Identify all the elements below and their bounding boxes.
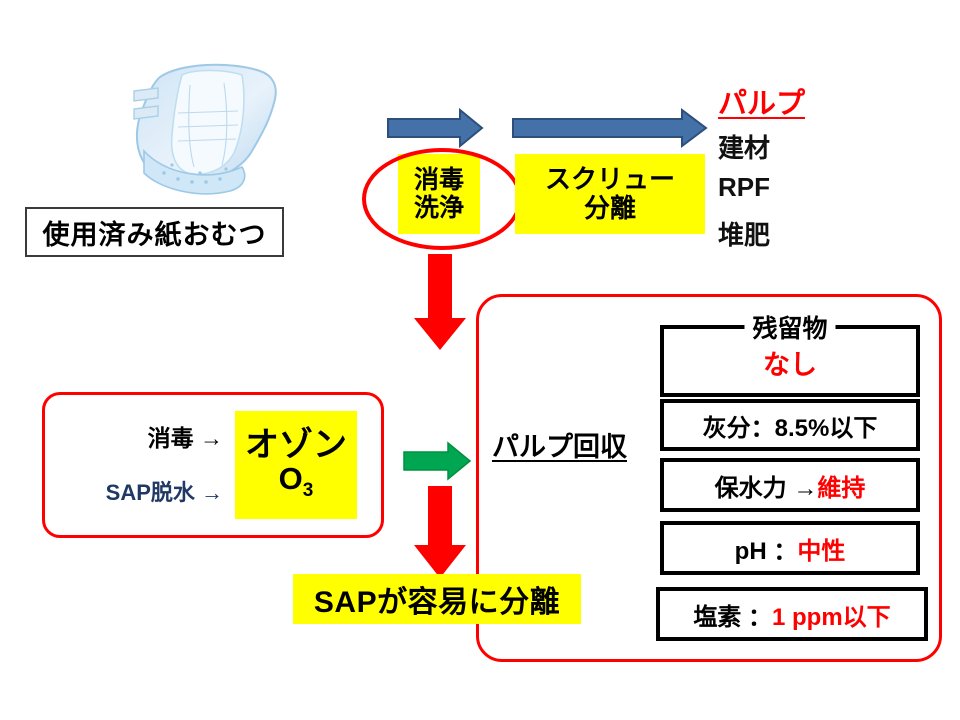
- result-ph-value: 中性: [797, 531, 845, 566]
- red-arrow-down-2: [414, 486, 466, 578]
- result-water-value: 維持: [817, 468, 865, 503]
- result-row-ash: 灰分：8.5%以下: [660, 399, 920, 451]
- result-water-label: 保水力 →: [715, 468, 818, 503]
- pulp-recovery-heading: パルプ回収: [492, 425, 627, 464]
- blue-arrow-1: [388, 110, 482, 146]
- ozone-label-sap-dehydration: SAP脱水 →: [106, 475, 223, 507]
- result-ph-label: pH ：: [735, 531, 798, 566]
- ozone-label-disinfect: 消毒 →: [148, 419, 223, 453]
- ozone-formula-subscript: 3: [303, 480, 314, 501]
- residue-value: なし: [664, 343, 916, 382]
- result-ash-text: 灰分：8.5%以下: [703, 408, 878, 443]
- ozone-formula-base: O: [279, 461, 303, 496]
- result-chlorine-label: 塩素 ：: [693, 597, 772, 632]
- result-row-water-retention: 保水力 → 維持: [660, 458, 920, 512]
- diaper-illustration: [120, 55, 300, 205]
- used-diaper-caption-text: 使用済み紙おむつ: [43, 213, 267, 252]
- sap-separation-text: SAPが容易に分離: [314, 577, 560, 621]
- ozone-formula: O3: [279, 462, 314, 502]
- step2-line1: スクリュー: [545, 165, 675, 194]
- diagram-canvas: 使用済み紙おむつ 消毒 洗浄 スクリュー 分離 パルプ 建材: [0, 0, 960, 720]
- pulp-use-item-2: RPF: [718, 172, 770, 203]
- ozone-highlight-box: オゾン O3: [235, 411, 357, 519]
- residue-box: 残留物 なし: [660, 325, 920, 397]
- pulp-use-item-3: 堆肥: [718, 215, 770, 252]
- blue-arrow-2: [513, 110, 706, 146]
- result-row-chlorine: 塩素 ： 1 ppm以下: [656, 587, 928, 641]
- green-arrow-right: [404, 443, 470, 479]
- used-diaper-caption: 使用済み紙おむつ: [25, 207, 284, 257]
- process-step-screw-separation[interactable]: スクリュー 分離: [515, 154, 705, 234]
- red-arrow-down-1: [414, 254, 466, 350]
- ozone-name: オゾン: [245, 428, 347, 462]
- diaper-tab-upper: [134, 88, 158, 101]
- result-chlorine-value: 1 ppm以下: [772, 597, 891, 632]
- pulp-use-item-1: 建材: [718, 128, 770, 165]
- ozone-reagent-card: 消毒 → SAP脱水 → オゾン O3: [42, 392, 384, 538]
- red-highlight-ellipse: [362, 148, 522, 250]
- pulp-output-title: パルプ: [718, 80, 805, 122]
- step2-line2: 分離: [584, 194, 636, 223]
- ozone-card-labels: 消毒 → SAP脱水 →: [63, 413, 223, 517]
- sap-separation-result: SAPが容易に分離: [293, 574, 581, 624]
- used-diaper-image: [120, 55, 300, 205]
- residue-legend: 残留物: [744, 309, 835, 345]
- diaper-tab-lower: [134, 106, 158, 119]
- result-row-ph: pH ： 中性: [660, 521, 920, 575]
